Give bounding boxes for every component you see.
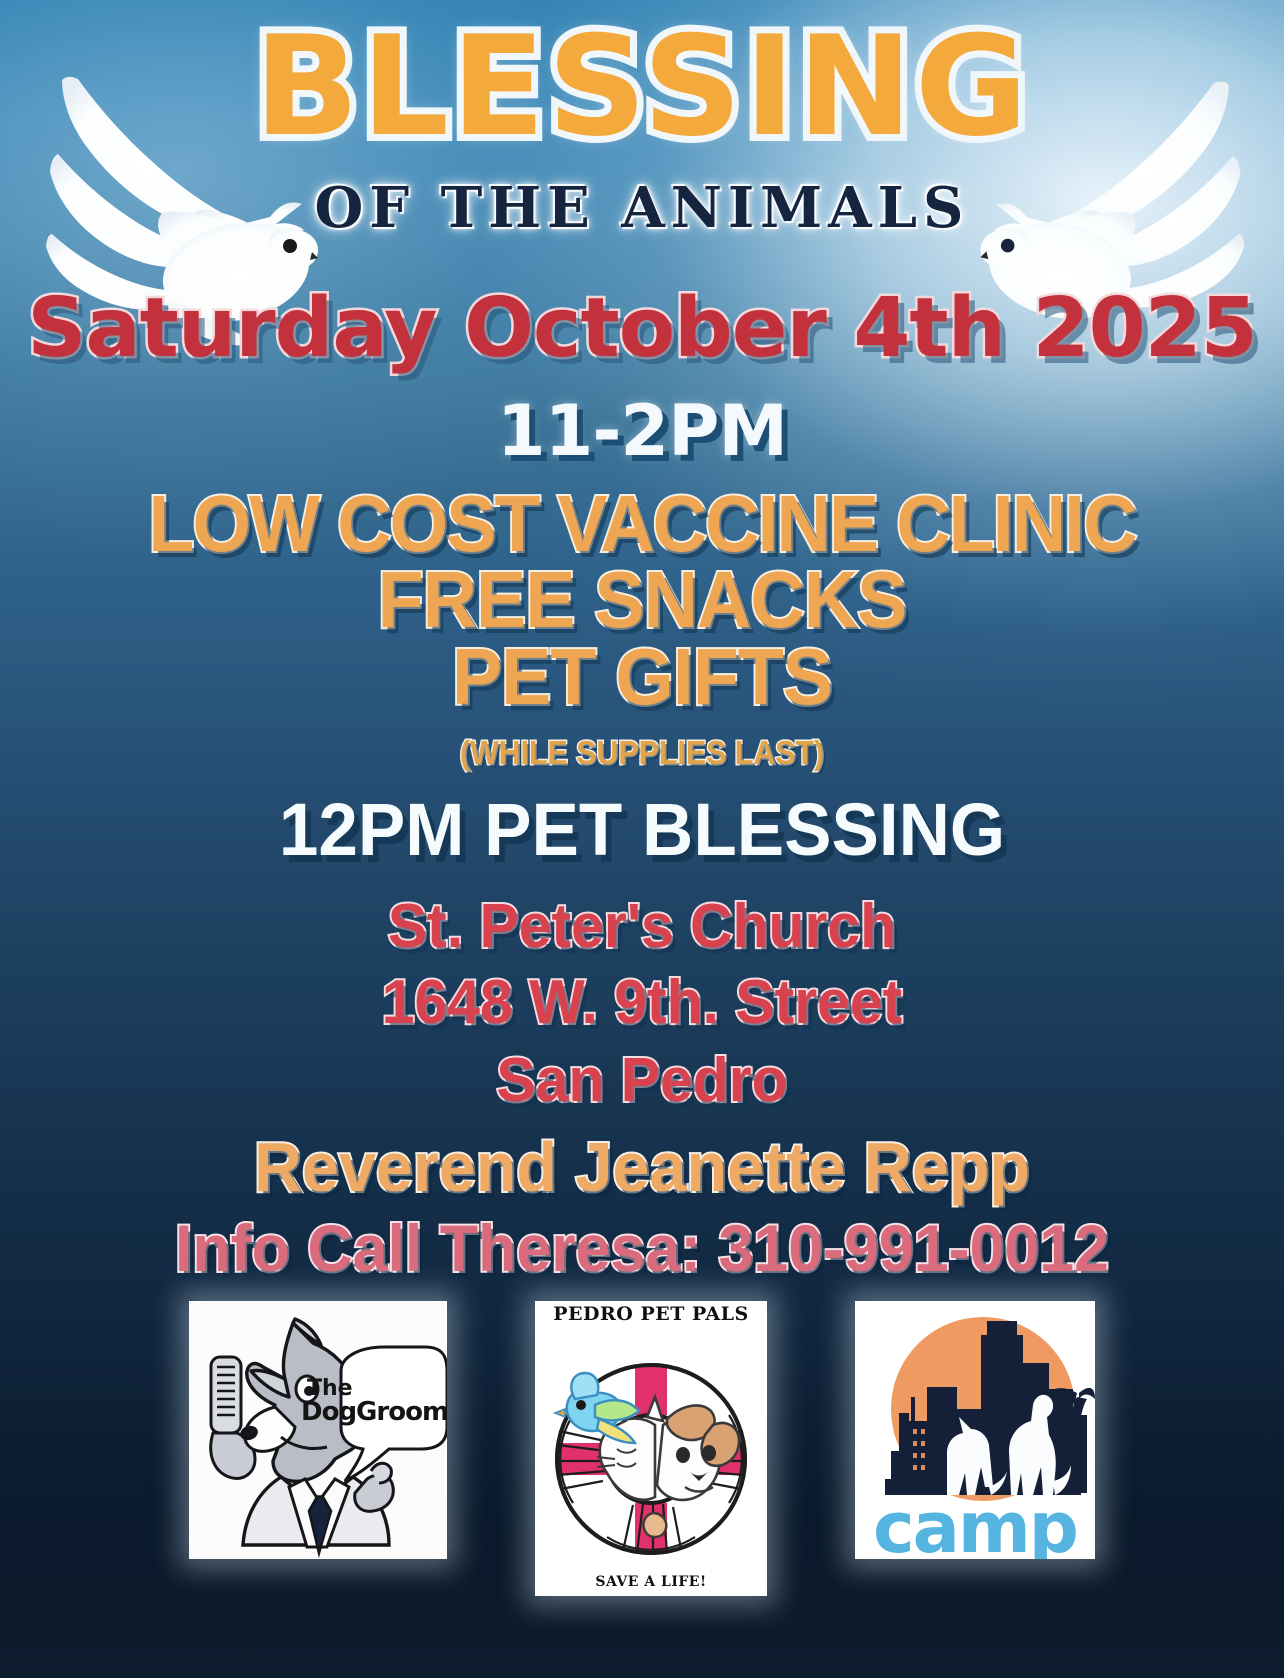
event-poster: BLESSING OF THE ANIMALS Saturday October… bbox=[0, 0, 1284, 1678]
page-subtitle: OF THE ANIMALS bbox=[0, 180, 1284, 236]
pet-blessing-time: 12PM PET BLESSING bbox=[26, 793, 1259, 867]
pedro-pet-pals-tagline: SAVE A LIFE! bbox=[535, 1574, 767, 1590]
offer-vaccine-clinic: LOW COST VACCINE CLINIC bbox=[39, 484, 1246, 564]
sponsor-logo-row: The DogGroomer bbox=[0, 1301, 1284, 1621]
dog-groomer-wordmark: The DogGroomer bbox=[301, 1379, 429, 1425]
dog-groomer-line2: DogGroomer bbox=[301, 1400, 429, 1425]
venue-city: San Pedro bbox=[32, 1050, 1252, 1112]
page-title: BLESSING bbox=[0, 18, 1284, 156]
officiant-name: Reverend Jeanette Repp bbox=[32, 1132, 1252, 1202]
pedro-pet-pals-title: PEDRO PET PALS bbox=[535, 1303, 767, 1325]
sponsor-logo-pedro-pet-pals: PEDRO PET PALS SAVE A LIFE! bbox=[535, 1301, 767, 1596]
dog-groomer-icon bbox=[189, 1301, 447, 1559]
event-date: Saturday October 4th 2025 bbox=[0, 288, 1284, 370]
camp-wordmark: camp bbox=[855, 1493, 1095, 1559]
offer-disclaimer: (WHILE SUPPLIES LAST) bbox=[51, 736, 1232, 769]
contact-phone: Info Call Theresa: 310-991-0012 bbox=[32, 1215, 1252, 1281]
venue-address: 1648 W. 9th. Street bbox=[32, 972, 1252, 1034]
event-time-range: 11-2PM bbox=[0, 396, 1284, 466]
sponsor-logo-dog-groomer: The DogGroomer bbox=[189, 1301, 447, 1559]
offer-pet-gifts: PET GIFTS bbox=[39, 637, 1246, 717]
venue-name: St. Peter's Church bbox=[32, 896, 1252, 958]
sponsor-logo-camp: camp bbox=[855, 1301, 1095, 1559]
offer-free-snacks: FREE SNACKS bbox=[39, 560, 1246, 640]
pedro-pet-pals-icon bbox=[535, 1301, 767, 1596]
